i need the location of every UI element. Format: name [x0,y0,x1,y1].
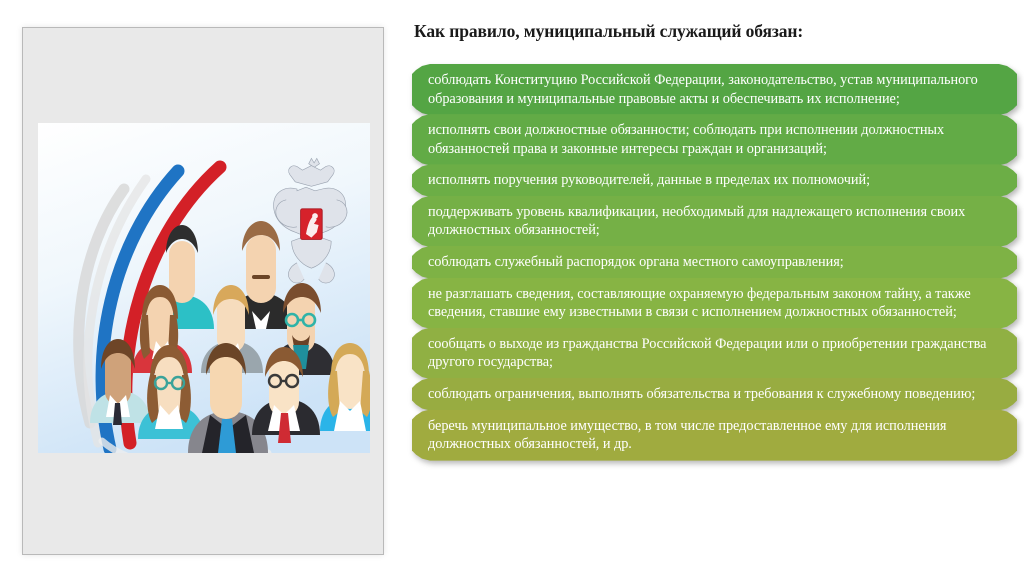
duty-banner-1[interactable]: соблюдать Конституцию Российской Федерац… [412,64,1017,115]
illustration-svg [38,123,370,453]
russian-civil-servants-illustration [38,123,370,453]
duty-text: соблюдать служебный распорядок органа ме… [428,253,1003,272]
duty-banner-2[interactable]: исполнять свои должностные обязанности; … [412,114,1017,165]
content-pane: Как правило, муниципальный служащий обяз… [408,0,1024,576]
duty-banner-9[interactable]: беречь муниципальное имущество, в том чи… [412,410,1017,461]
duty-banner-5[interactable]: соблюдать служебный распорядок органа ме… [412,246,1017,279]
duty-banner-8[interactable]: соблюдать ограничения, выполнять обязате… [412,378,1017,411]
duty-banner-3[interactable]: исполнять поручения руководителей, данны… [412,164,1017,197]
duty-banner-7[interactable]: сообщать о выходе из гражданства Российс… [412,328,1017,379]
duty-text: соблюдать ограничения, выполнять обязате… [428,385,1003,404]
duties-banner-list: соблюдать Конституцию Российской Федерац… [412,64,1017,461]
duty-text: беречь муниципальное имущество, в том чи… [428,417,1003,454]
duty-text: поддерживать уровень квалификации, необх… [428,203,1003,240]
duty-text: исполнять свои должностные обязанности; … [428,121,1003,158]
duty-text: соблюдать Конституцию Российской Федерац… [428,71,1003,108]
duty-banner-4[interactable]: поддерживать уровень квалификации, необх… [412,196,1017,247]
duty-text: сообщать о выходе из гражданства Российс… [428,335,1003,372]
duty-text: исполнять поручения руководителей, данны… [428,171,1003,190]
page-title: Как правило, муниципальный служащий обяз… [414,21,1014,42]
duty-banner-6[interactable]: не разглашать сведения, составляющие охр… [412,278,1017,329]
slide-canvas: Как правило, муниципальный служащий обяз… [0,0,1024,576]
duty-text: не разглашать сведения, составляющие охр… [428,285,1003,322]
picture-placeholder-card [22,27,384,555]
